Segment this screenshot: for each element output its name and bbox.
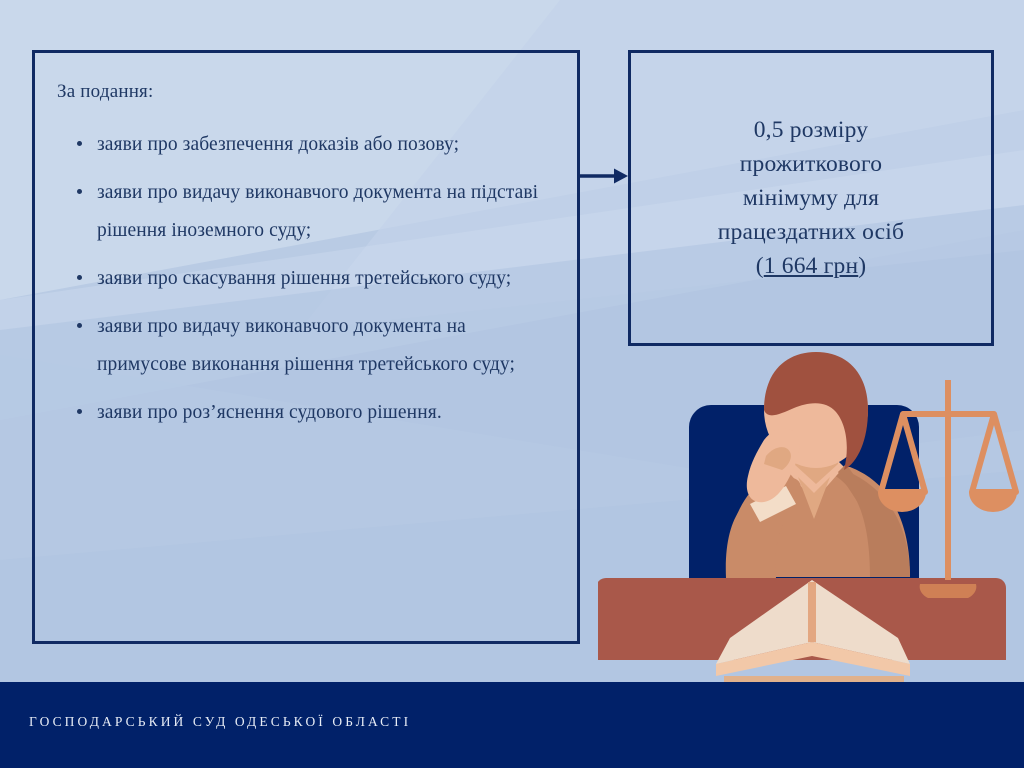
- conditions-content: За подання: заяви про забезпечення доказ…: [35, 53, 577, 641]
- fee-amount-box: 0,5 розміру прожиткового мінімуму для пр…: [628, 50, 994, 346]
- fee-amount-text: 0,5 розміру прожиткового мінімуму для пр…: [718, 113, 904, 283]
- slide-canvas: За подання: заяви про забезпечення доказ…: [0, 0, 1024, 768]
- book-spine: [808, 582, 816, 642]
- fee-amount-value: 1 664 грн: [764, 253, 859, 279]
- arrow-right-icon: [580, 165, 630, 187]
- conditions-lead: За подання:: [57, 81, 557, 104]
- fee-line-3: мінімуму для: [743, 185, 879, 211]
- list-item: заяви про видачу виконавчого документа н…: [51, 174, 557, 250]
- fee-amount-content: 0,5 розміру прожиткового мінімуму для пр…: [631, 53, 991, 343]
- scales-base: [920, 584, 977, 598]
- scales-pan-right: [969, 492, 1017, 512]
- list-item: заяви про роз’яснення судового рішення.: [51, 394, 557, 432]
- fee-line-1: 0,5 розміру: [754, 117, 869, 143]
- fee-line-4: працездатних осіб: [718, 219, 904, 245]
- fee-amount-suffix: ): [858, 253, 866, 279]
- list-item: заяви про видачу виконавчого документа н…: [51, 308, 557, 384]
- fee-line-2: прожиткового: [740, 151, 882, 177]
- judge-at-desk-illustration: [598, 352, 1024, 684]
- fee-amount-prefix: (: [756, 253, 764, 279]
- conditions-box: За подання: заяви про забезпечення доказ…: [32, 50, 580, 644]
- footer-title: ГОСПОДАРСЬКИЙ СУД ОДЕСЬКОЇ ОБЛАСТІ: [29, 714, 411, 730]
- list-item: заяви про забезпечення доказів або позов…: [51, 126, 557, 164]
- list-item: заяви про скасування рішення третейськог…: [51, 260, 557, 298]
- footer-bar: ГОСПОДАРСЬКИЙ СУД ОДЕСЬКОЇ ОБЛАСТІ: [0, 682, 1024, 768]
- conditions-list: заяви про забезпечення доказів або позов…: [51, 126, 557, 432]
